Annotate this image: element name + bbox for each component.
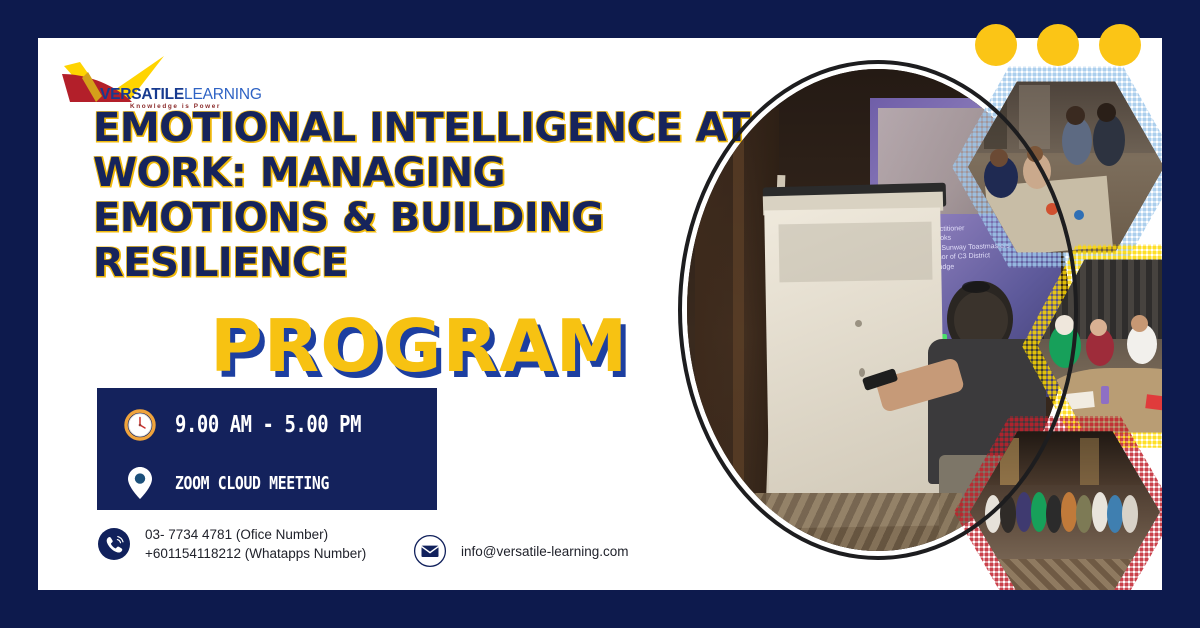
event-details-panel: 9.00 AM - 5.00 PM ZOOM CLOUD MEETING: [97, 388, 437, 510]
group-class-portrait-photo: [970, 428, 1160, 590]
group-workshop-table-photo: [968, 78, 1162, 256]
promo-banner: VERSATILELEARNING Knowledge is Power EMO…: [0, 0, 1200, 628]
event-time-value: 9.00 AM - 5.00 PM: [175, 412, 361, 438]
event-venue-value: ZOOM CLOUD MEETING: [175, 473, 329, 494]
detail-row-time: 9.00 AM - 5.00 PM: [123, 408, 402, 442]
envelope-icon: [413, 534, 447, 568]
decorative-dot-1: [975, 24, 1017, 66]
phone-whatsapp: +601154118212 (Whatapps Number): [145, 544, 366, 563]
location-pin-icon: [123, 466, 157, 500]
logo-wordmark: VERSATILELEARNING: [100, 86, 262, 104]
decorative-dot-2: [1037, 24, 1079, 66]
logo-name-bold: VERSATILE: [100, 86, 184, 103]
decorative-dot-3: [1099, 24, 1141, 66]
phone-numbers: 03- 7734 4781 (Ofice Number) +6011541182…: [145, 525, 366, 563]
phone-office: 03- 7734 4781 (Ofice Number): [145, 525, 366, 544]
banner-content-area: VERSATILELEARNING Knowledge is Power EMO…: [38, 38, 1162, 590]
detail-row-venue: ZOOM CLOUD MEETING: [123, 466, 363, 500]
logo-name-light: LEARNING: [184, 86, 262, 103]
team-discussion-table-photo: [1038, 256, 1162, 436]
program-word: PROGRAM: [210, 310, 628, 382]
email-address: info@versatile-learning.com: [461, 542, 629, 561]
contact-email[interactable]: info@versatile-learning.com: [413, 534, 629, 568]
contact-phone[interactable]: 03- 7734 4781 (Ofice Number) +6011541182…: [97, 525, 366, 563]
photo-collage: Corporate Trainer Certified NLP Practiti…: [638, 38, 1162, 590]
phone-icon: [97, 527, 131, 561]
clock-icon: [123, 408, 157, 442]
